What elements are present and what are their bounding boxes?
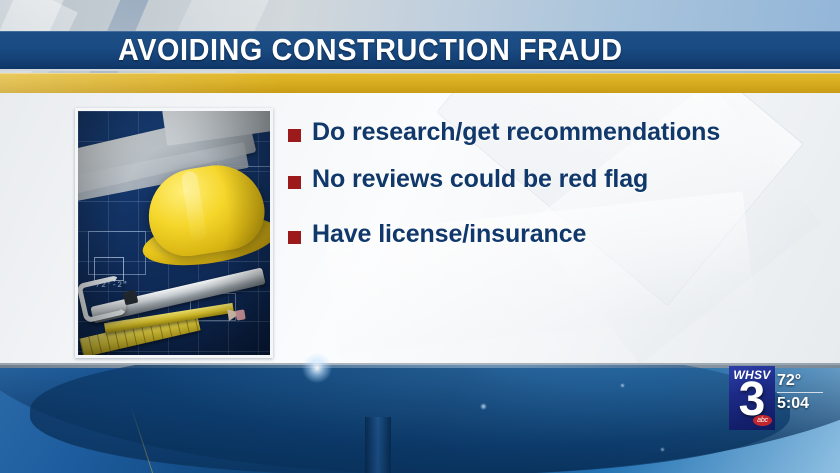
bullet-square-icon [288,176,301,189]
lens-flare-dot [480,403,487,410]
satellite-dish-stem [365,417,391,473]
lens-flare-dot [660,447,665,452]
broadcast-graphic: AVOIDING CONSTRUCTION FRAUD /2'-2" [0,0,840,473]
clock-readout: 5:04 [777,395,833,413]
hard-hat-photo-frame: /2'-2" [75,108,273,358]
hard-hat-icon [142,167,270,263]
temperature-readout: 72° [777,372,833,390]
satellite-dish-body [30,365,790,473]
bullet-list: Do research/get recommendations No revie… [288,118,808,267]
lens-flare-dot [620,383,625,388]
station-info: 72° 5:04 [777,372,833,413]
headline-bar: AVOIDING CONSTRUCTION FRAUD [0,31,840,71]
pencil-eraser [235,309,245,320]
bullet-item: Do research/get recommendations [288,118,808,147]
bullet-item: Have license/insurance [288,220,808,249]
bullet-item-text: Do research/get recommendations [312,118,720,147]
accent-gold-bar [0,73,840,93]
bullet-item-text: No reviews could be red flag [312,165,648,194]
bullet-item: No reviews could be red flag [288,165,808,194]
station-logo: WHSV 3 abc [729,366,775,430]
logo-divider [777,392,823,393]
gold-bar-highlight [0,73,280,93]
lower-background [0,365,840,473]
lens-flare-main [302,353,332,383]
bullet-item-text: Have license/insurance [312,220,586,249]
hard-hat-photo: /2'-2" [78,111,270,355]
bullet-square-icon [288,231,301,244]
headline-text: AVOIDING CONSTRUCTION FRAUD [118,31,623,71]
bullet-square-icon [288,129,301,142]
abc-network-icon: abc [753,415,772,426]
